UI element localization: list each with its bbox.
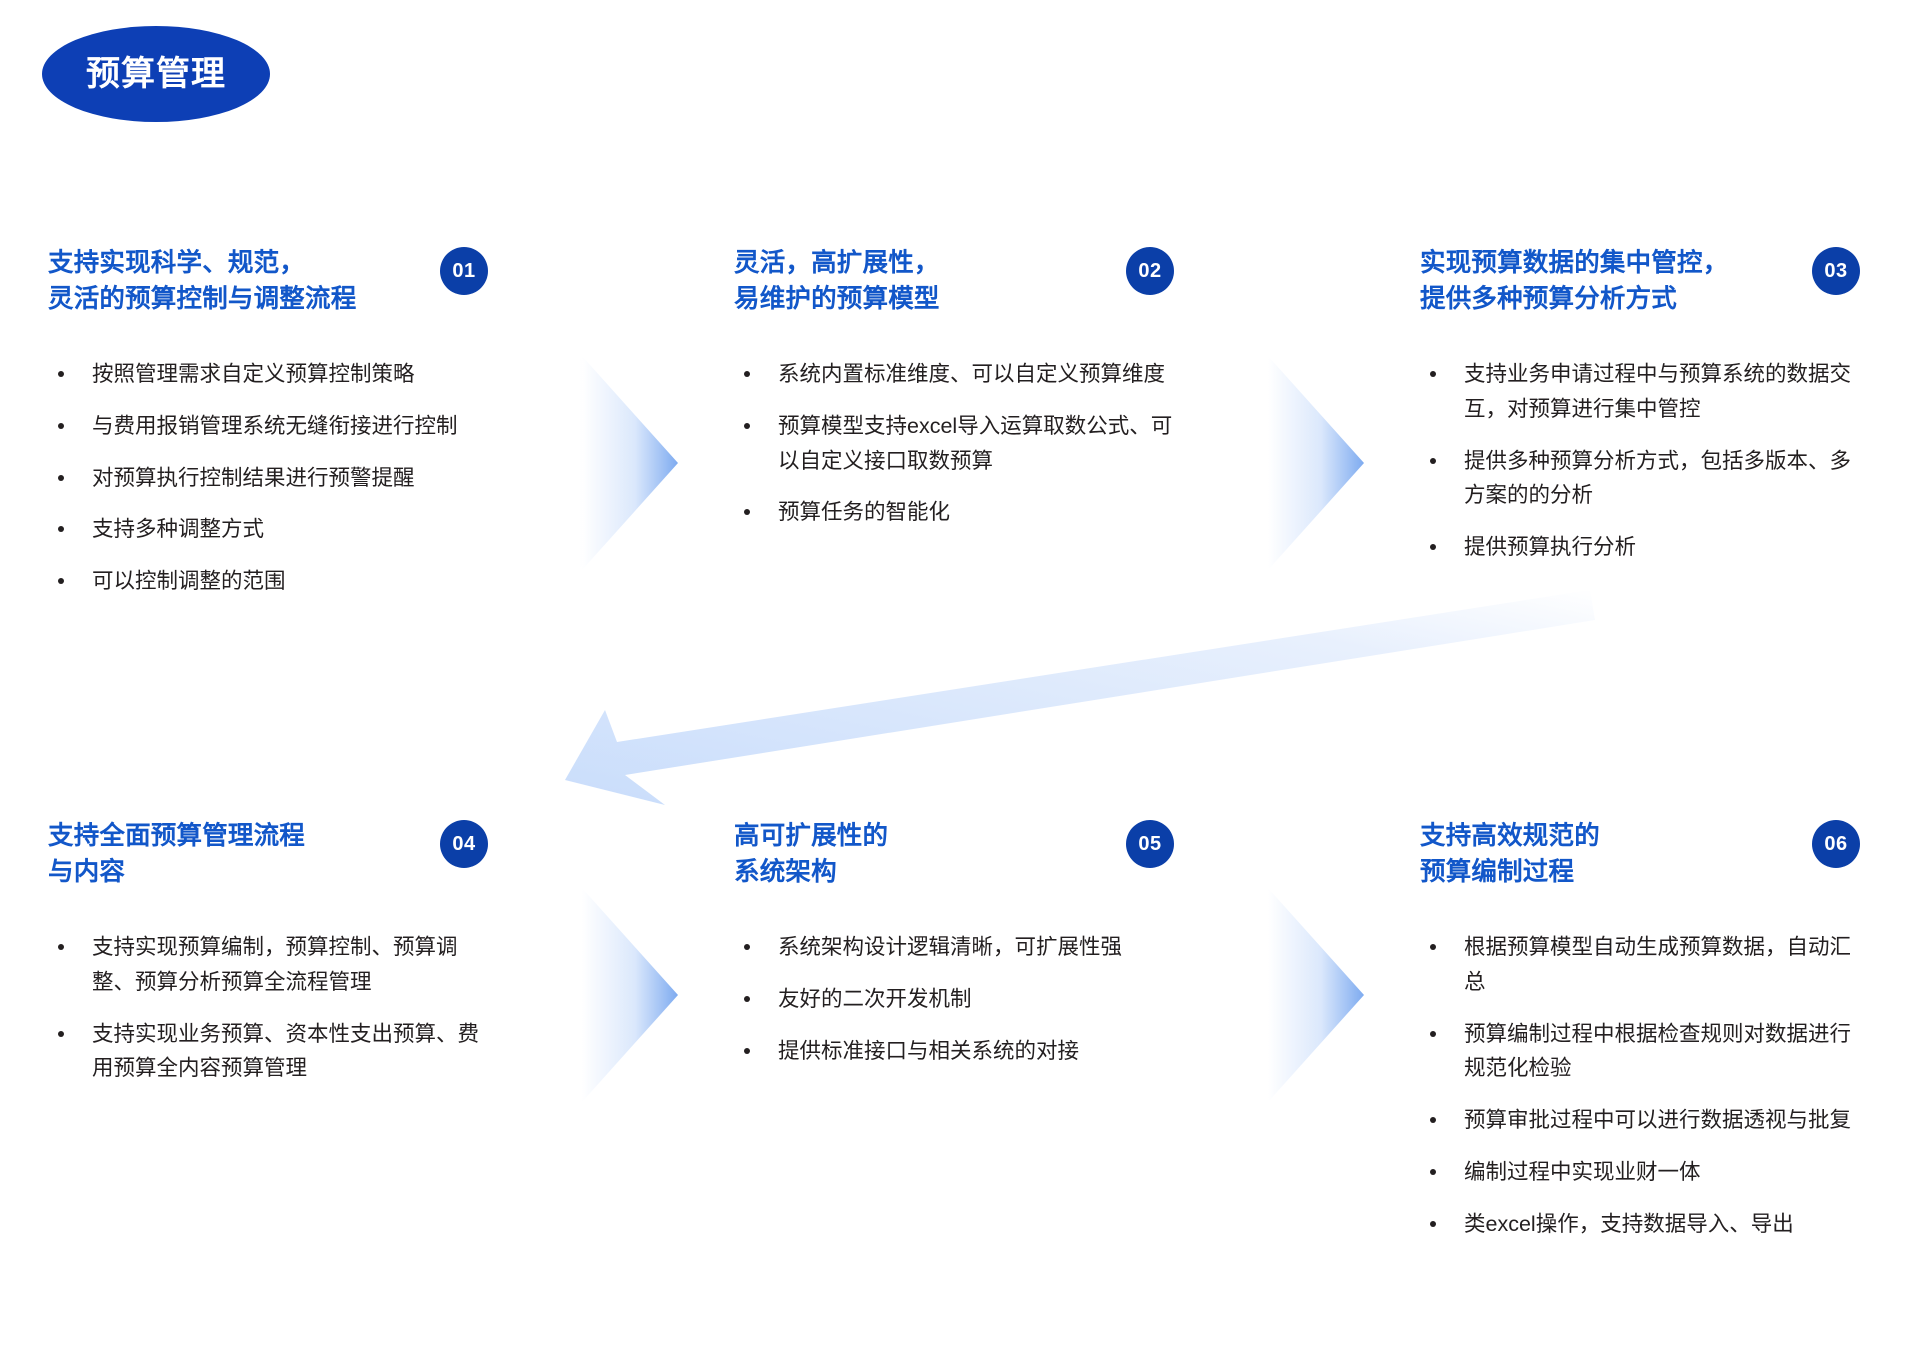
card-number-badge: 03 [1812, 247, 1860, 295]
card-header: 高可扩展性的 系统架构 05 [734, 818, 1174, 898]
list-item: 预算任务的智能化 [734, 495, 1174, 530]
list-item: 预算模型支持excel导入运算取数公式、可以自定义接口取数预算 [734, 409, 1174, 479]
list-item: 友好的二次开发机制 [734, 982, 1174, 1017]
card-header: 支持实现科学、规范， 灵活的预算控制与调整流程 01 [48, 245, 488, 325]
list-item: 支持实现预算编制，预算控制、预算调整、预算分析预算全流程管理 [48, 930, 488, 1000]
list-item: 系统内置标准维度、可以自定义预算维度 [734, 357, 1174, 392]
page-title: 预算管理 [86, 57, 226, 91]
list-item: 预算编制过程中根据检查规则对数据进行规范化检验 [1420, 1017, 1860, 1087]
list-item: 可以控制调整的范围 [48, 564, 488, 599]
card-bullet-list: 系统架构设计逻辑清晰，可扩展性强 友好的二次开发机制 提供标准接口与相关系统的对… [734, 930, 1174, 1068]
list-item: 支持多种调整方式 [48, 512, 488, 547]
list-item: 支持业务申请过程中与预算系统的数据交互，对预算进行集中管控 [1420, 357, 1860, 427]
card-bullet-list: 系统内置标准维度、可以自定义预算维度 预算模型支持excel导入运算取数公式、可… [734, 357, 1174, 530]
card-header: 支持全面预算管理流程 与内容 04 [48, 818, 488, 898]
card-title: 实现预算数据的集中管控， 提供多种预算分析方式 [1420, 245, 1794, 317]
list-item: 类excel操作，支持数据导入、导出 [1420, 1207, 1860, 1242]
card-bullet-list: 根据预算模型自动生成预算数据，自动汇总 预算编制过程中根据检查规则对数据进行规范… [1420, 930, 1860, 1242]
card-bullet-list: 按照管理需求自定义预算控制策略 与费用报销管理系统无缝衔接进行控制 对预算执行控… [48, 357, 488, 599]
feature-card-02: 灵活，高扩展性， 易维护的预算模型 02 系统内置标准维度、可以自定义预算维度 … [734, 245, 1174, 547]
card-title: 支持全面预算管理流程 与内容 [48, 818, 422, 890]
card-title: 支持高效规范的 预算编制过程 [1420, 818, 1794, 890]
feature-card-03: 实现预算数据的集中管控， 提供多种预算分析方式 03 支持业务申请过程中与预算系… [1420, 245, 1860, 582]
feature-card-06: 支持高效规范的 预算编制过程 06 根据预算模型自动生成预算数据，自动汇总 预算… [1420, 818, 1860, 1259]
card-title: 灵活，高扩展性， 易维护的预算模型 [734, 245, 1108, 317]
list-item: 提供多种预算分析方式，包括多版本、多方案的的分析 [1420, 444, 1860, 514]
list-item: 支持实现业务预算、资本性支出预算、费用预算全内容预算管理 [48, 1017, 488, 1087]
return-flow-arrow-icon [505, 590, 1595, 810]
card-number-badge: 01 [440, 247, 488, 295]
card-number-badge: 06 [1812, 820, 1860, 868]
list-item: 预算审批过程中可以进行数据透视与批复 [1420, 1103, 1860, 1138]
card-header: 支持高效规范的 预算编制过程 06 [1420, 818, 1860, 898]
card-header: 灵活，高扩展性， 易维护的预算模型 02 [734, 245, 1174, 325]
card-title: 高可扩展性的 系统架构 [734, 818, 1108, 890]
card-number-badge: 05 [1126, 820, 1174, 868]
card-bullet-list: 支持业务申请过程中与预算系统的数据交互，对预算进行集中管控 提供多种预算分析方式… [1420, 357, 1860, 565]
list-item: 根据预算模型自动生成预算数据，自动汇总 [1420, 930, 1860, 1000]
card-bullet-list: 支持实现预算编制，预算控制、预算调整、预算分析预算全流程管理 支持实现业务预算、… [48, 930, 488, 1086]
flow-chevron-icon-4 [1266, 880, 1386, 1110]
list-item: 对预算执行控制结果进行预警提醒 [48, 461, 488, 496]
feature-card-04: 支持全面预算管理流程 与内容 04 支持实现预算编制，预算控制、预算调整、预算分… [48, 818, 488, 1103]
feature-card-05: 高可扩展性的 系统架构 05 系统架构设计逻辑清晰，可扩展性强 友好的二次开发机… [734, 818, 1174, 1085]
card-header: 实现预算数据的集中管控， 提供多种预算分析方式 03 [1420, 245, 1860, 325]
card-number-badge: 02 [1126, 247, 1174, 295]
flow-chevron-icon-3 [580, 880, 700, 1110]
page-title-badge: 预算管理 [42, 26, 270, 122]
list-item: 与费用报销管理系统无缝衔接进行控制 [48, 409, 488, 444]
list-item: 提供标准接口与相关系统的对接 [734, 1034, 1174, 1069]
feature-card-01: 支持实现科学、规范， 灵活的预算控制与调整流程 01 按照管理需求自定义预算控制… [48, 245, 488, 616]
card-number-badge: 04 [440, 820, 488, 868]
list-item: 系统架构设计逻辑清晰，可扩展性强 [734, 930, 1174, 965]
flow-chevron-icon-1 [580, 348, 700, 578]
card-title: 支持实现科学、规范， 灵活的预算控制与调整流程 [48, 245, 422, 317]
flow-chevron-icon-2 [1266, 348, 1386, 578]
list-item: 按照管理需求自定义预算控制策略 [48, 357, 488, 392]
list-item: 编制过程中实现业财一体 [1420, 1155, 1860, 1190]
list-item: 提供预算执行分析 [1420, 530, 1860, 565]
